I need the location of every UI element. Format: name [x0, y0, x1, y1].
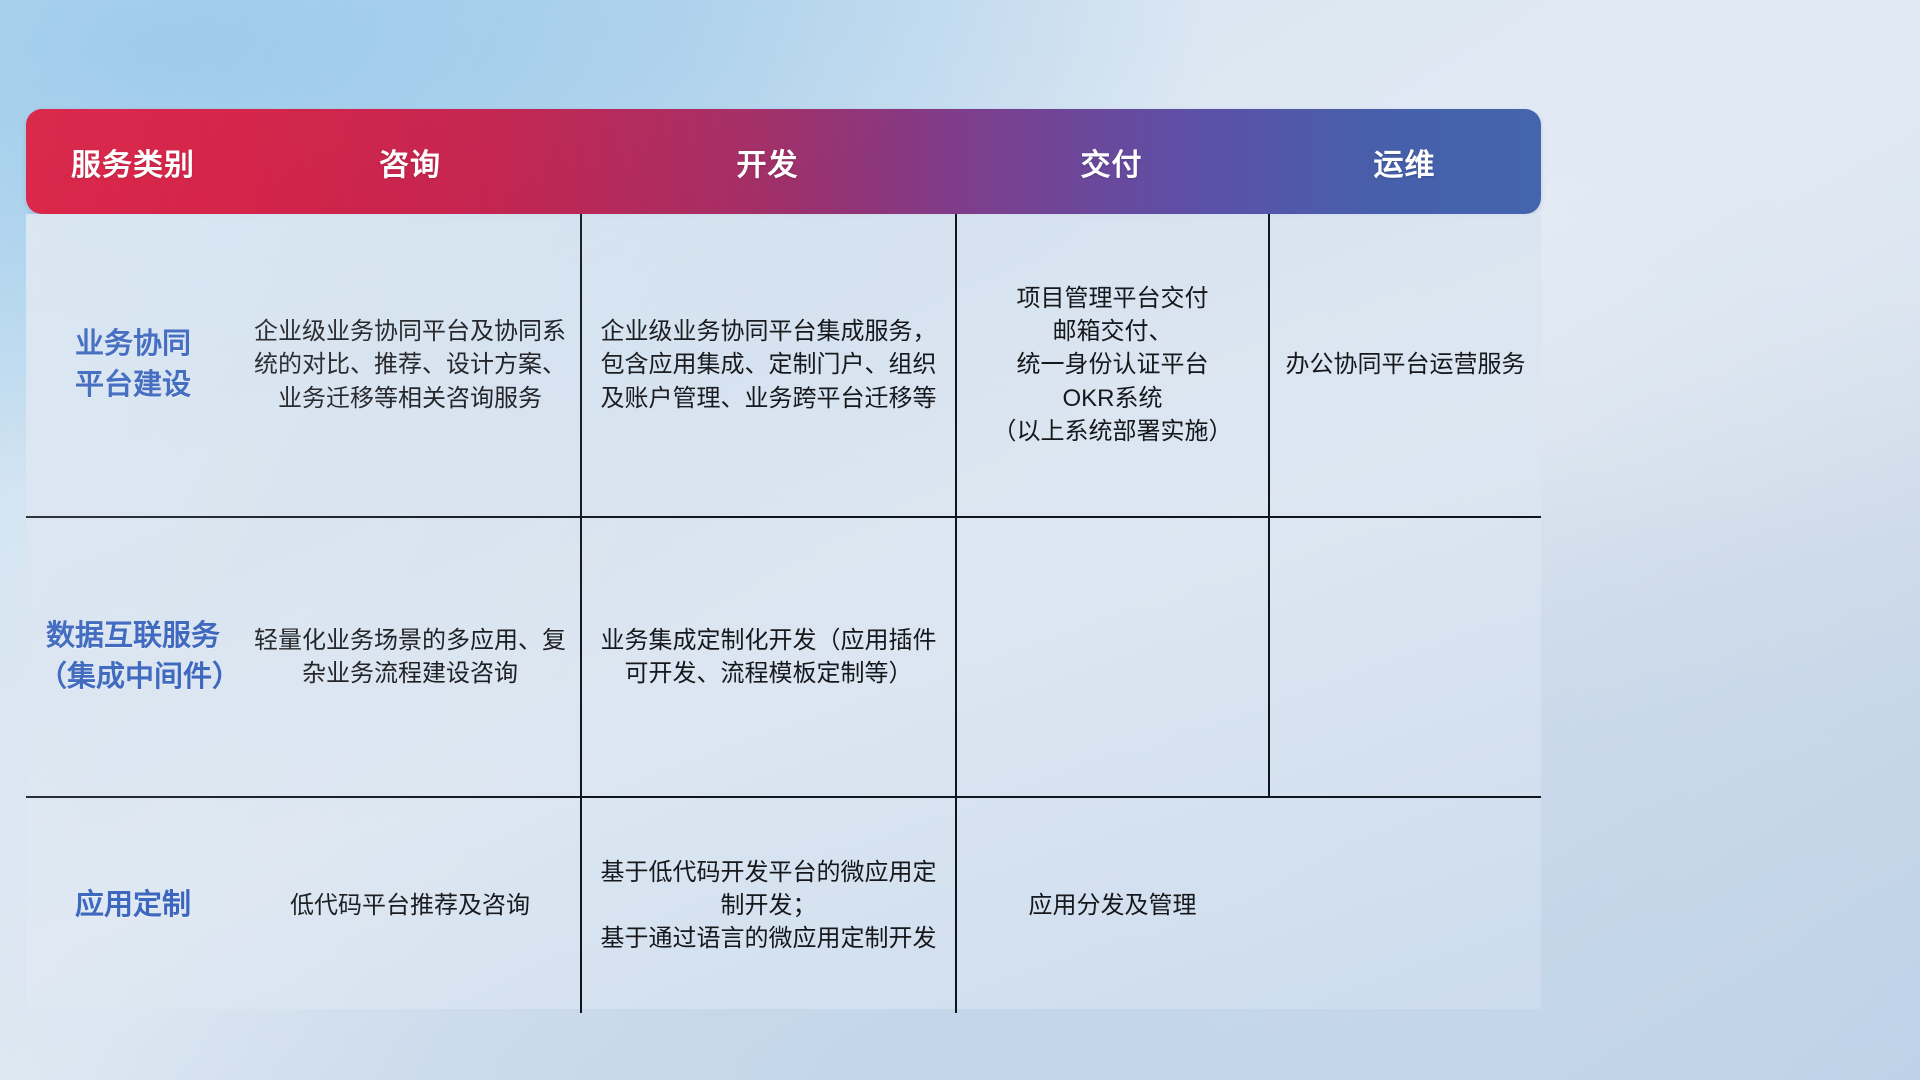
table-row: 业务协同 平台建设 企业级业务协同平台及协同系 统的对比、推荐、设计方案、 业务…: [26, 214, 1541, 518]
cell-row1-development: 企业级业务协同平台集成服务， 包含应用集成、定制门户、组织 及账户管理、业务跨平…: [580, 214, 955, 516]
cell-row2-development: 业务集成定制化开发（应用插件 可开发、流程模板定制等）: [580, 518, 955, 796]
slide-canvas: 服务类别 咨询 开发 交付 运维 业务协同 平台建设 企业级业务协同平台及协同系…: [0, 0, 1920, 1080]
cell-row3-operations: [1268, 798, 1541, 1013]
cell-row1-delivery: 项目管理平台交付 邮箱交付、 统一身份认证平台 OKR系统 （以上系统部署实施）: [955, 214, 1268, 516]
cell-row1-consulting: 企业级业务协同平台及协同系 统的对比、推荐、设计方案、 业务迁移等相关咨询服务: [240, 214, 580, 516]
service-matrix-table: 服务类别 咨询 开发 交付 运维 业务协同 平台建设 企业级业务协同平台及协同系…: [26, 109, 1541, 1009]
cell-row3-development: 基于低代码开发平台的微应用定 制开发； 基于通过语言的微应用定制开发: [580, 798, 955, 1013]
cell-row1-operations: 办公协同平台运营服务: [1268, 214, 1541, 516]
table-row: 应用定制 低代码平台推荐及咨询 基于低代码开发平台的微应用定 制开发； 基于通过…: [26, 798, 1541, 1013]
column-header-consulting: 咨询: [240, 140, 580, 184]
cell-row2-delivery: [955, 518, 1268, 796]
table-row: 数据互联服务 （集成中间件） 轻量化业务场景的多应用、复 杂业务流程建设咨询 业…: [26, 518, 1541, 798]
column-header-development: 开发: [580, 140, 955, 184]
cell-row2-consulting: 轻量化业务场景的多应用、复 杂业务流程建设咨询: [240, 518, 580, 796]
column-header-category: 服务类别: [26, 140, 240, 184]
row-label-business-collaboration: 业务协同 平台建设: [26, 214, 240, 516]
table-body: 业务协同 平台建设 企业级业务协同平台及协同系 统的对比、推荐、设计方案、 业务…: [26, 214, 1541, 1009]
cell-row3-consulting: 低代码平台推荐及咨询: [240, 798, 580, 1013]
row-label-app-customization: 应用定制: [26, 798, 240, 1013]
cell-row3-delivery: 应用分发及管理: [955, 798, 1268, 1013]
row-label-data-interconnect: 数据互联服务 （集成中间件）: [26, 518, 240, 796]
column-header-delivery: 交付: [955, 140, 1268, 184]
table-header-row: 服务类别 咨询 开发 交付 运维: [26, 109, 1541, 214]
column-header-operations: 运维: [1268, 140, 1541, 184]
cell-row2-operations: [1268, 518, 1541, 796]
